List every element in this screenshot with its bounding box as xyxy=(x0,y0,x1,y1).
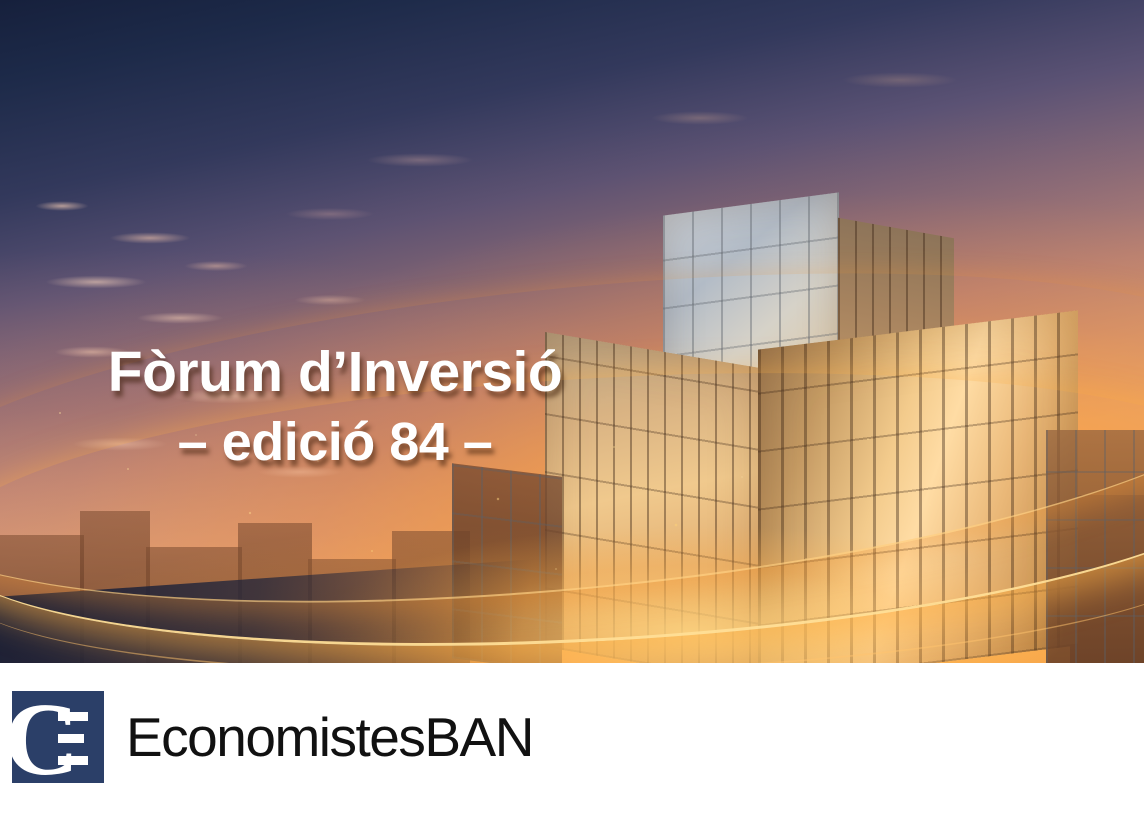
background-building-left xyxy=(452,463,562,663)
sponsor-logo-bar: C EconomistesBAN finançament alternatiu xyxy=(0,663,1144,822)
economistesban-wordmark: EconomistesBAN xyxy=(126,705,533,769)
letter-e-bar-top xyxy=(58,712,88,721)
letter-e-bar-middle xyxy=(58,734,84,743)
title-line-primary: Fòrum d’Inversió xyxy=(0,336,670,408)
slide-title: Fòrum d’Inversió – edició 84 – xyxy=(0,336,670,477)
hero-image: Fòrum d’Inversió – edició 84 – xyxy=(0,0,1144,663)
background-building-right xyxy=(1046,430,1144,663)
economistesban-mark-icon: C xyxy=(12,691,104,783)
logo-economistesban: C EconomistesBAN xyxy=(12,691,533,783)
letter-e-bar-bottom xyxy=(58,756,88,765)
presentation-slide: Fòrum d’Inversió – edició 84 – C Economi… xyxy=(0,0,1144,822)
title-line-edition: – edició 84 – xyxy=(0,408,670,477)
building-right-facade xyxy=(758,310,1078,663)
